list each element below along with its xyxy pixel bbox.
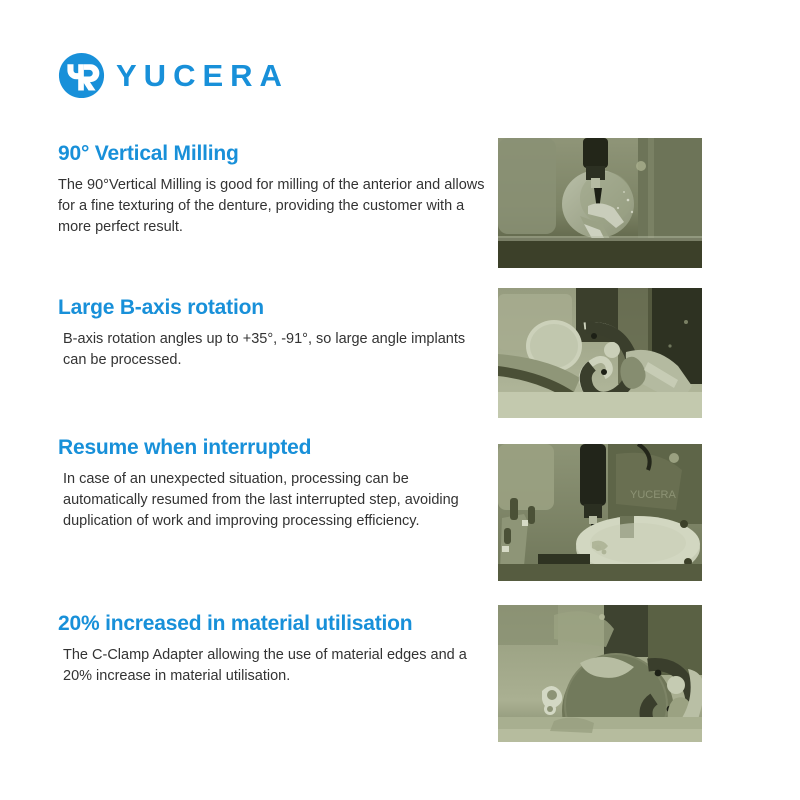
feature-body: The 90°Vertical Milling is good for mill…	[58, 175, 488, 238]
brand-logo: YUCERA	[58, 52, 289, 99]
feature-body: B-axis rotation angles up to +35°, -91°,…	[58, 329, 488, 371]
feature-sheet-page: YUCERA 90° Vertical Milling The 90°Verti…	[0, 0, 800, 800]
feature-body: In case of an unexpected situation, proc…	[58, 469, 488, 532]
yr-monogram-circle-icon	[58, 52, 105, 99]
feature-image-b-axis-rotation	[498, 288, 702, 418]
feature-image-material-utilisation	[498, 605, 702, 742]
feature-heading: 20% increased in material utilisation	[58, 612, 488, 636]
feature-image-resume-interrupted: YUCERA	[498, 444, 702, 581]
feature-heading: Resume when interrupted	[58, 436, 488, 460]
feature-text-column: 20% increased in material utilisation Th…	[58, 612, 488, 687]
feature-text-column: Resume when interrupted In case of an un…	[58, 436, 488, 532]
feature-image-vertical-milling	[498, 138, 702, 268]
svg-text:YUCERA: YUCERA	[630, 489, 677, 501]
feature-text-column: 90° Vertical Milling The 90°Vertical Mil…	[58, 142, 488, 238]
feature-heading: Large B-axis rotation	[58, 296, 488, 320]
feature-body: The C-Clamp Adapter allowing the use of …	[58, 645, 488, 687]
feature-text-column: Large B-axis rotation B-axis rotation an…	[58, 296, 488, 371]
feature-heading: 90° Vertical Milling	[58, 142, 488, 166]
brand-wordmark: YUCERA	[116, 60, 289, 91]
